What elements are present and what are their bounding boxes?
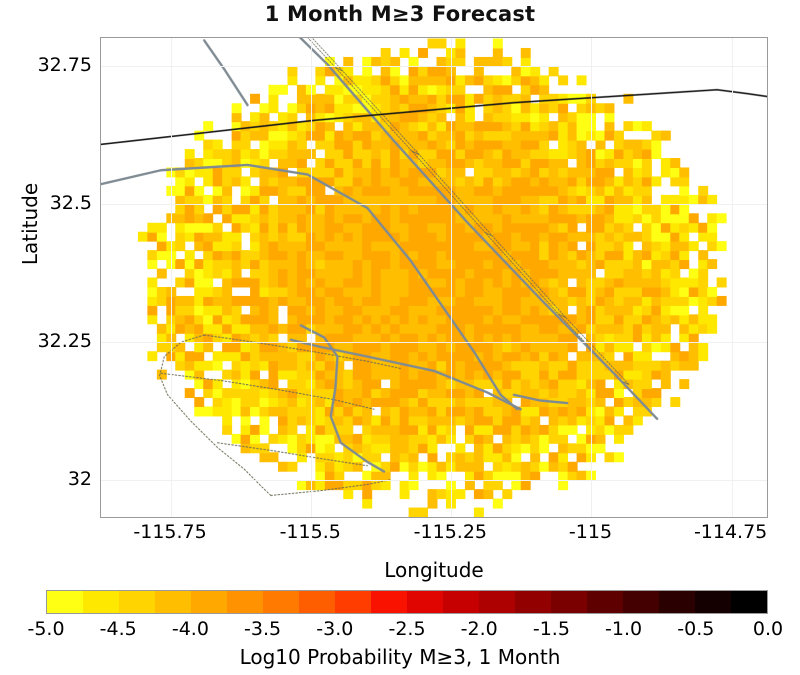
colorbar-tick-label: -1.5 [533,618,570,640]
x-tick-label: -115.75 [133,521,206,543]
colorbar-tick-label: -5.0 [27,618,64,640]
x-tick-label: -114.75 [694,521,767,543]
colorbar[interactable] [46,590,768,614]
colorbar-swatch [587,591,623,613]
probability-heatmap-canvas [101,38,767,517]
colorbar-swatch [371,591,407,613]
colorbar-swatch [515,591,551,613]
colorbar-tick-label: -4.0 [172,618,209,640]
colorbar-swatch [191,591,227,613]
colorbar-swatch [479,591,515,613]
colorbar-swatch [47,591,83,613]
colorbar-tick-label: -2.5 [388,618,425,640]
colorbar-swatch [443,591,479,613]
gridline-horizontal [101,204,767,205]
map-plot-area[interactable] [100,37,768,518]
colorbar-swatch [299,591,335,613]
y-tick-label: 32 [68,468,92,490]
gridline-vertical [171,38,172,517]
page-title: 1 Month M≥3 Forecast [0,2,800,26]
colorbar-swatch [119,591,155,613]
gridline-vertical [732,38,733,517]
colorbar-tick-label: -3.0 [316,618,353,640]
gridline-horizontal [101,480,767,481]
colorbar-tick-label: -3.5 [244,618,281,640]
colorbar-swatch [659,591,695,613]
forecast-figure: 1 Month M≥3 Forecast Latitude Longitude … [0,0,800,675]
y-tick-label: 32.5 [50,192,92,214]
colorbar-label: Log10 Probability M≥3, 1 Month [0,645,800,669]
colorbar-swatch [335,591,371,613]
gridline-horizontal [101,342,767,343]
y-axis-label: Latitude [18,124,42,324]
colorbar-swatch [731,591,767,613]
gridline-horizontal [101,66,767,67]
y-tick-label: 32.75 [38,54,92,76]
colorbar-swatch [263,591,299,613]
gridline-vertical [591,38,592,517]
x-axis-label: Longitude [100,558,768,582]
colorbar-swatch [83,591,119,613]
colorbar-swatch [695,591,731,613]
colorbar-swatch [227,591,263,613]
x-tick-label: -115.5 [280,521,341,543]
gridline-vertical [451,38,452,517]
x-tick-label: -115 [569,521,612,543]
colorbar-tick-label: -0.5 [677,618,714,640]
colorbar-swatch [551,591,587,613]
colorbar-tick-label: -2.0 [461,618,498,640]
colorbar-swatch [623,591,659,613]
y-tick-label: 32.25 [38,330,92,352]
x-tick-label: -115.25 [414,521,487,543]
gridline-vertical [311,38,312,517]
colorbar-gradient [46,590,768,614]
colorbar-tick-label: -1.0 [605,618,642,640]
colorbar-tick-label: 0.0 [753,618,783,640]
colorbar-swatch [407,591,443,613]
colorbar-tick-label: -4.5 [100,618,137,640]
colorbar-swatch [155,591,191,613]
